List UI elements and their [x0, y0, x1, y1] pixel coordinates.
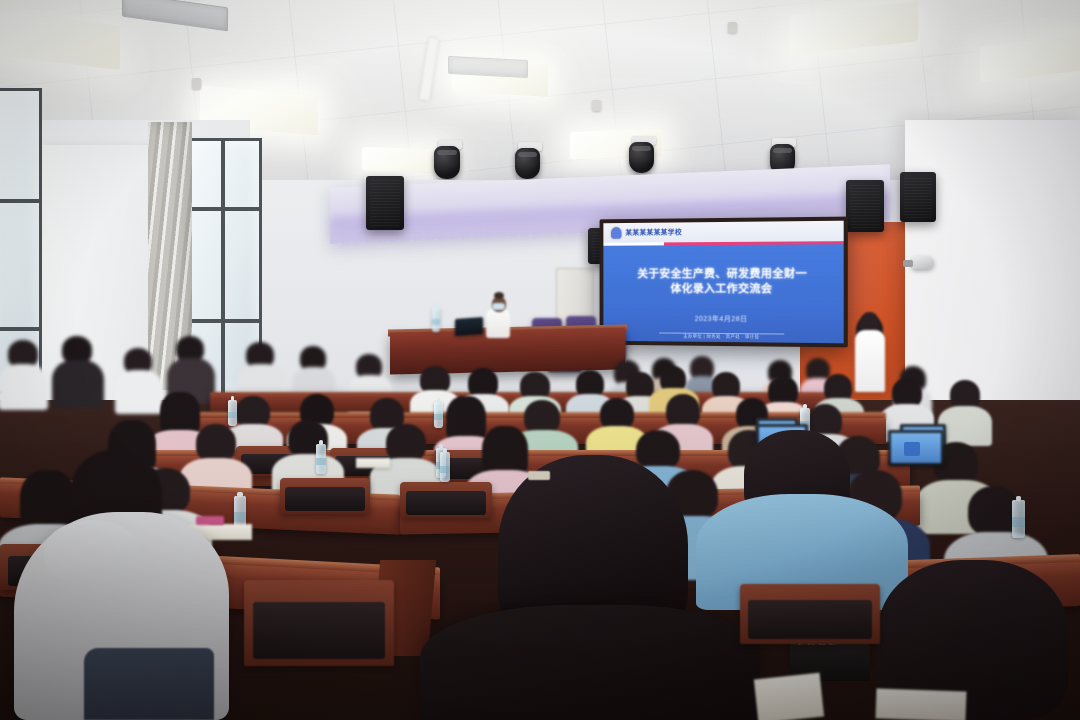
- slide-accent-rule: [603, 241, 843, 246]
- presenter-face-mask: [492, 303, 505, 310]
- security-camera-icon: [912, 256, 934, 269]
- water-bottle: [228, 400, 237, 426]
- water-bottle: [316, 444, 326, 474]
- sprinkler-head: [192, 78, 201, 89]
- track-spotlight: [515, 148, 540, 179]
- wall-speaker: [900, 172, 936, 222]
- presenter-hair-bun: [494, 292, 504, 299]
- sprinkler-head: [592, 100, 601, 111]
- ceiling-panel-light: [362, 147, 442, 174]
- paper-sheet: [356, 458, 390, 468]
- slide-title-line2: 体化录入工作交流会: [609, 282, 837, 297]
- paper-sheet: [876, 688, 967, 720]
- water-bottle: [434, 402, 443, 428]
- foreground-person-jeans: [84, 648, 214, 720]
- audience-chair: [280, 478, 370, 514]
- wall-speaker: [366, 176, 404, 230]
- sprinkler-head: [728, 22, 737, 33]
- paper-sheet: [754, 673, 824, 720]
- slide-header: 某某某某某某学校: [603, 221, 843, 243]
- projection-screen: 某某某某某某学校 关于安全生产费、研发费用全财一 体化录入工作交流会 2023年…: [600, 217, 848, 348]
- slide-org-name: 某某某某某某学校: [625, 227, 682, 237]
- standing-person-body: [855, 330, 885, 392]
- podium-laptop: [455, 317, 483, 336]
- audience-chair: [244, 580, 394, 666]
- school-logo-icon: [611, 227, 622, 239]
- slide-title-line1: 关于安全生产费、研发费用全财一: [609, 267, 837, 282]
- water-bottle: [432, 308, 440, 332]
- track-spotlight: [629, 142, 654, 173]
- audience-chair: [740, 584, 880, 644]
- wall-speaker: [846, 180, 884, 232]
- hood: [44, 520, 140, 582]
- water-bottle: [1012, 500, 1025, 538]
- track-spotlight: [434, 146, 460, 179]
- slide-date: 2023年4月28日: [603, 313, 843, 325]
- slide-footer-text: 主办单位 | 财务处 · 资产处 · 审计处: [603, 333, 843, 341]
- torso: [420, 605, 760, 720]
- presenter-body: [486, 308, 510, 338]
- conference-room-photo: 某某某某某某学校 关于安全生产费、研发费用全财一 体化录入工作交流会 2023年…: [0, 0, 1080, 720]
- slide-title: 关于安全生产费、研发费用全财一 体化录入工作交流会: [609, 267, 837, 298]
- hair-clip: [528, 471, 550, 480]
